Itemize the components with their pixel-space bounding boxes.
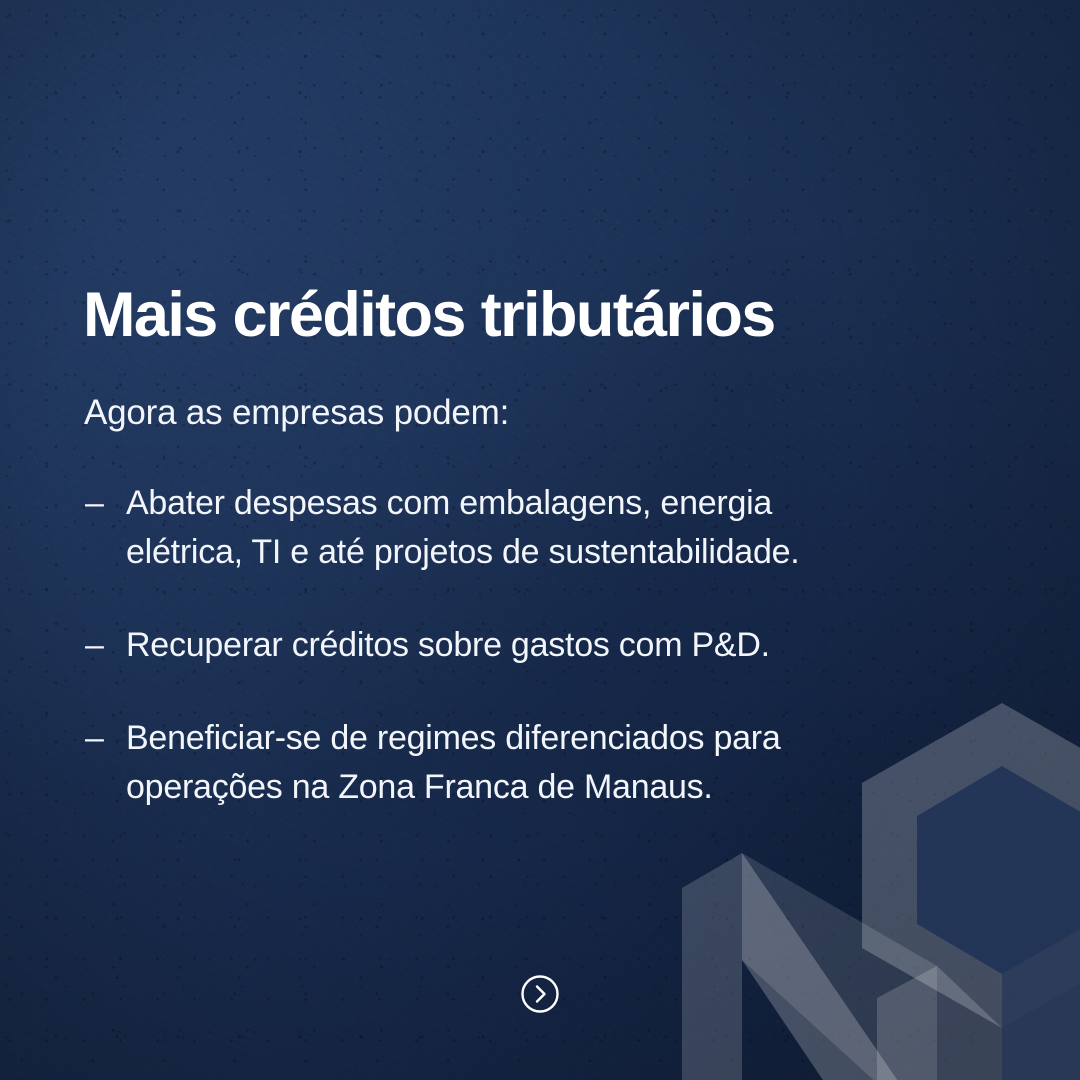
page-title: Mais créditos tributários [83, 283, 775, 348]
chevron-right-circle-icon[interactable] [520, 974, 560, 1014]
list-item: – Recuperar créditos sobre gastos com P&… [85, 621, 1010, 670]
bullet-dash-icon: – [85, 621, 126, 670]
bullet-dash-icon: – [85, 479, 126, 528]
carousel-slide: Mais créditos tributários Agora as empre… [0, 0, 1080, 1080]
bullet-text: Recuperar créditos sobre gastos com P&D. [126, 621, 1010, 670]
list-item: – Abater despesas com embalagens, energi… [85, 479, 1010, 577]
bullet-dash-icon: – [85, 714, 126, 763]
slide-content: Mais créditos tributários Agora as empre… [83, 0, 1013, 1080]
list-item: – Beneficiar-se de regimes diferenciados… [85, 714, 1010, 812]
bullet-list: – Abater despesas com embalagens, energi… [85, 479, 1010, 812]
subtitle: Agora as empresas podem: [84, 392, 509, 434]
bullet-text: Abater despesas com embalagens, energia … [126, 479, 1010, 577]
bullet-text: Beneficiar-se de regimes diferenciados p… [126, 714, 1010, 812]
